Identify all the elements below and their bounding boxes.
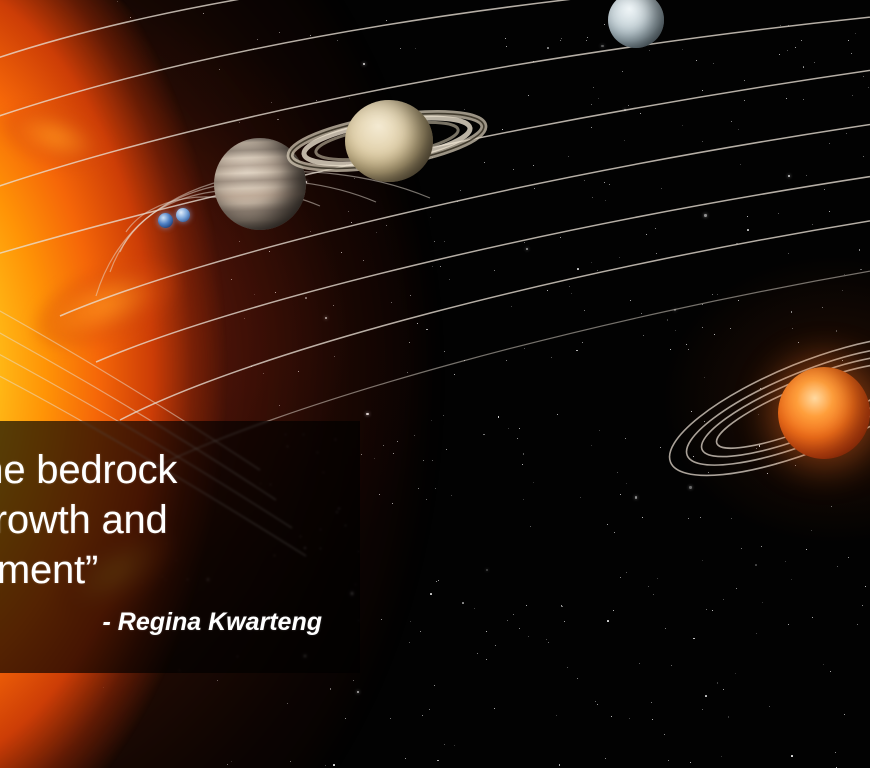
- quote-panel: e is the bedrock nal growth and elopment…: [0, 421, 360, 673]
- planet-jupiter: [214, 138, 306, 230]
- planet-saturn: [345, 100, 433, 182]
- planet-inner-venus: [176, 208, 190, 222]
- red-star: [778, 367, 870, 459]
- planet-inner-earth: [158, 213, 173, 228]
- quote-line-3: elopment”: [0, 545, 342, 595]
- quote-line-1: e is the bedrock: [0, 445, 342, 495]
- quote-line-2: nal growth and: [0, 495, 342, 545]
- quote-attribution: - Regina Kwarteng: [0, 607, 342, 637]
- slide-canvas: e is the bedrock nal growth and elopment…: [0, 0, 870, 768]
- quote-text: e is the bedrock nal growth and elopment…: [0, 445, 342, 595]
